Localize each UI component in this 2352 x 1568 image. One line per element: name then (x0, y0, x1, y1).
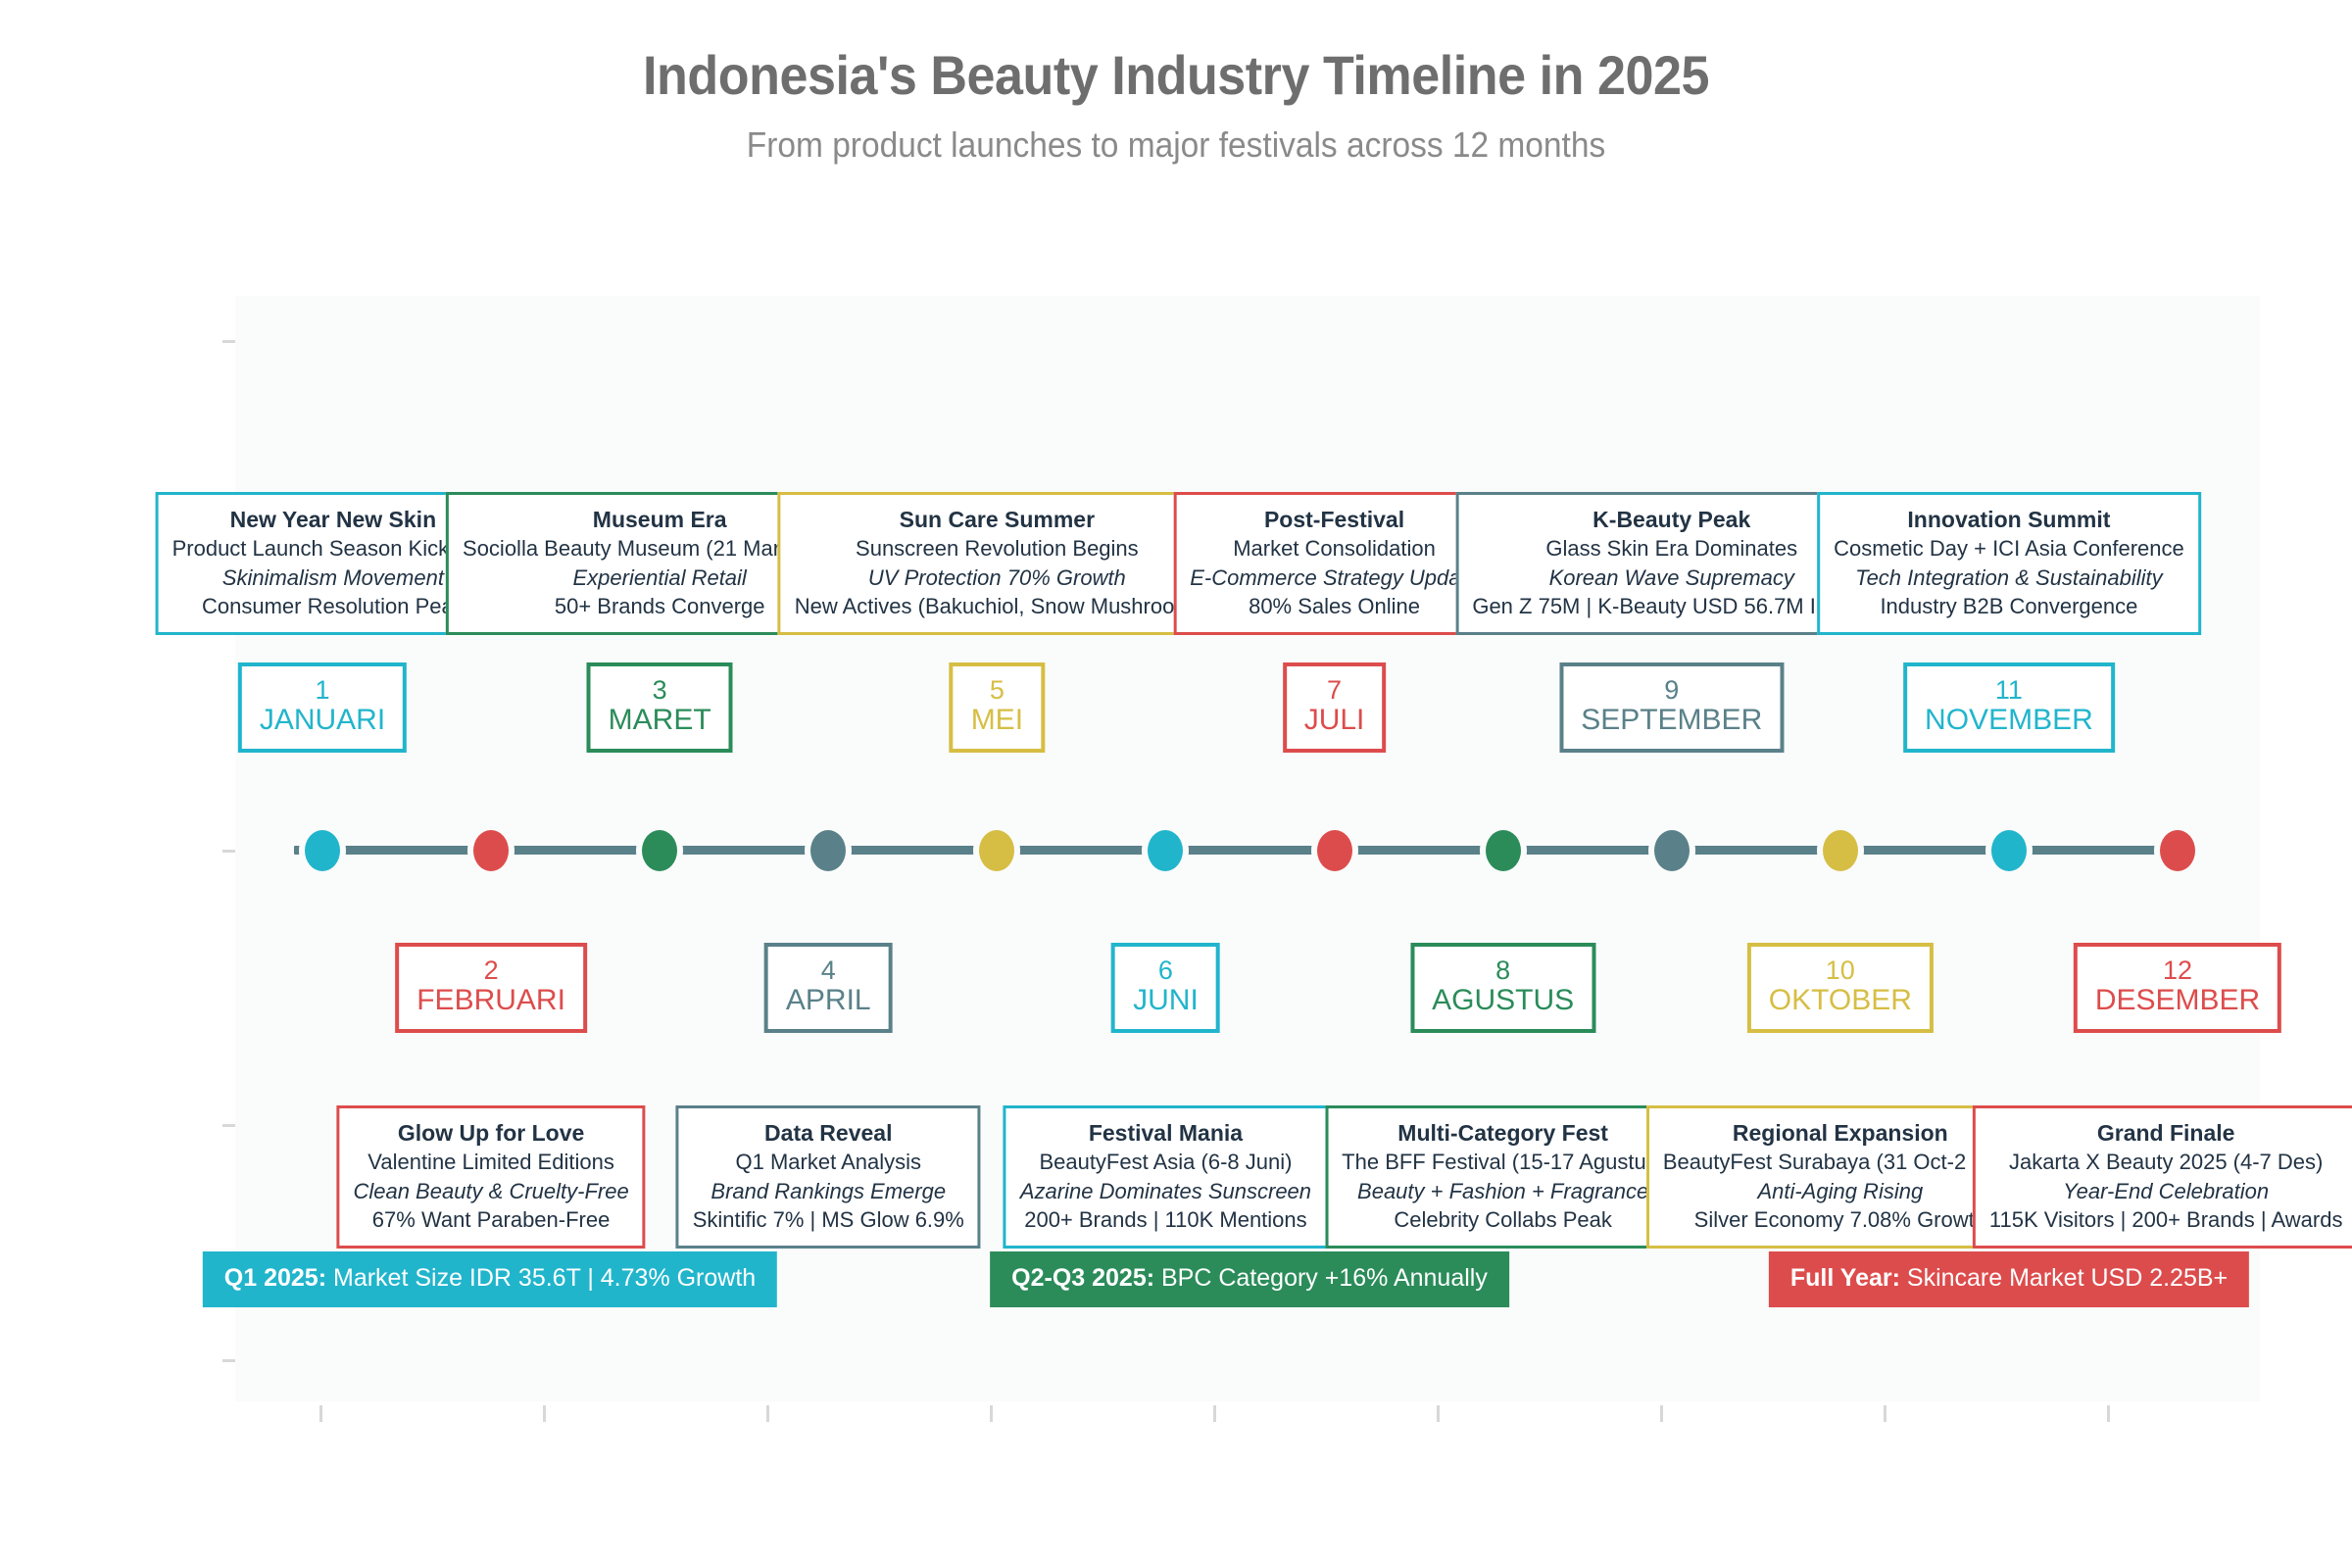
month-marker-oktober[interactable]: 10OKTOBER (1747, 943, 1934, 1033)
y-axis-tick (222, 1359, 235, 1362)
event-detail-stat: 115K Visitors | 200+ Brands | Awards (1989, 1205, 2343, 1234)
page-title: Indonesia's Beauty Industry Timeline in … (82, 0, 2270, 107)
event-detail-trend: Brand Rankings Emerge (693, 1177, 964, 1205)
event-detail-trend: Beauty + Fashion + Fragrance (1342, 1177, 1664, 1205)
summary-banner-3[interactable]: Full Year: Skincare Market USD 2.25B+ (1769, 1251, 2249, 1307)
summary-banner-1[interactable]: Q1 2025: Market Size IDR 35.6T | 4.73% G… (203, 1251, 777, 1307)
month-number: 10 (1769, 956, 1912, 985)
event-title: Festival Mania (1020, 1118, 1311, 1148)
event-detail-stat: 80% Sales Online (1190, 592, 1479, 620)
timeline-node-dot[interactable] (1823, 830, 1858, 871)
month-number: 1 (260, 676, 385, 705)
event-detail-primary: Market Consolidation (1190, 534, 1479, 563)
x-axis-tick (766, 1405, 769, 1422)
event-title: Grand Finale (1989, 1118, 2343, 1148)
month-name: JANUARI (260, 705, 385, 736)
month-name: MARET (609, 705, 711, 736)
event-card-mei[interactable]: Sun Care SummerSunscreen Revolution Begi… (778, 492, 1216, 635)
month-number: 7 (1304, 676, 1365, 705)
event-card-juli[interactable]: Post-FestivalMarket ConsolidationE-Comme… (1173, 492, 1495, 635)
event-detail-primary: BeautyFest Surabaya (31 Oct-2 Nov) (1663, 1148, 2018, 1176)
event-detail-primary: BeautyFest Asia (6-8 Juni) (1020, 1148, 1311, 1176)
timeline-node-dot[interactable] (305, 830, 340, 871)
event-detail-stat: 67% Want Paraben-Free (353, 1205, 628, 1234)
month-marker-juni[interactable]: 6JUNI (1111, 943, 1220, 1033)
month-marker-februari[interactable]: 2FEBRUARI (395, 943, 587, 1033)
month-name: AGUSTUS (1432, 985, 1574, 1016)
x-axis-tick (319, 1405, 322, 1422)
event-card-november[interactable]: Innovation SummitCosmetic Day + ICI Asia… (1817, 492, 2201, 635)
event-title: Post-Festival (1190, 505, 1479, 534)
event-detail-stat: Silver Economy 7.08% Growth (1663, 1205, 2018, 1234)
event-detail-stat: New Actives (Bakuchiol, Snow Mushroom) (795, 592, 1200, 620)
event-detail-primary: Jakarta X Beauty 2025 (4-7 Des) (1989, 1148, 2343, 1176)
event-card-februari[interactable]: Glow Up for LoveValentine Limited Editio… (336, 1105, 645, 1249)
event-title: Sun Care Summer (795, 505, 1200, 534)
timeline-node-dot[interactable] (473, 830, 509, 871)
event-detail-trend: UV Protection 70% Growth (795, 563, 1200, 592)
event-detail-primary: The BFF Festival (15-17 Agustus) (1342, 1148, 1664, 1176)
month-marker-november[interactable]: 11NOVEMBER (1903, 662, 2115, 753)
month-name: DESEMBER (2095, 985, 2260, 1016)
event-detail-primary: Glass Skin Era Dominates (1472, 534, 1871, 563)
x-axis-tick (543, 1405, 546, 1422)
event-detail-stat: Gen Z 75M | K-Beauty USD 56.7M Import (1472, 592, 1871, 620)
summary-label: Q1 2025: (224, 1264, 333, 1292)
summary-text: Market Size IDR 35.6T | 4.73% Growth (333, 1264, 756, 1292)
month-marker-januari[interactable]: 1JANUARI (238, 662, 407, 753)
y-axis-tick (222, 850, 235, 853)
event-detail-stat: Skintific 7% | MS Glow 6.9% (693, 1205, 964, 1234)
summary-text: BPC Category +16% Annually (1161, 1264, 1488, 1292)
month-name: APRIL (786, 985, 871, 1016)
timeline-node-dot[interactable] (2160, 830, 2195, 871)
event-card-april[interactable]: Data RevealQ1 Market AnalysisBrand Ranki… (676, 1105, 981, 1249)
event-detail-trend: Korean Wave Supremacy (1472, 563, 1871, 592)
x-axis-tick (1437, 1405, 1440, 1422)
timeline-node-dot[interactable] (1317, 830, 1352, 871)
x-axis-tick (1660, 1405, 1663, 1422)
timeline-node-dot[interactable] (810, 830, 846, 871)
event-title: Innovation Summit (1834, 505, 2184, 534)
event-title: Glow Up for Love (353, 1118, 628, 1148)
event-card-juni[interactable]: Festival ManiaBeautyFest Asia (6-8 Juni)… (1004, 1105, 1328, 1249)
y-axis-tick (222, 1124, 235, 1127)
month-marker-maret[interactable]: 3MARET (587, 662, 733, 753)
month-number: 6 (1133, 956, 1199, 985)
month-number: 12 (2095, 956, 2260, 985)
month-number: 11 (1925, 676, 2093, 705)
event-detail-trend: Azarine Dominates Sunscreen (1020, 1177, 1311, 1205)
month-number: 4 (786, 956, 871, 985)
x-axis-tick (2107, 1405, 2110, 1422)
month-name: JULI (1304, 705, 1365, 736)
page-subtitle: From product launches to major festivals… (82, 107, 2270, 166)
event-detail-trend: Clean Beauty & Cruelty-Free (353, 1177, 628, 1205)
month-name: FEBRUARI (416, 985, 565, 1016)
event-title: K-Beauty Peak (1472, 505, 1871, 534)
event-detail-trend: Anti-Aging Rising (1663, 1177, 2018, 1205)
timeline-spine (294, 846, 2185, 855)
summary-label: Q2-Q3 2025: (1011, 1264, 1161, 1292)
month-marker-juli[interactable]: 7JULI (1283, 662, 1387, 753)
chart-header: Indonesia's Beauty Industry Timeline in … (0, 0, 2352, 166)
month-name: OKTOBER (1769, 985, 1912, 1016)
event-detail-stat: 200+ Brands | 110K Mentions (1020, 1205, 1311, 1234)
summary-text: Skincare Market USD 2.25B+ (1907, 1264, 2228, 1292)
timeline-node-dot[interactable] (1486, 830, 1521, 871)
month-number: 8 (1432, 956, 1574, 985)
x-axis-tick (990, 1405, 993, 1422)
month-marker-agustus[interactable]: 8AGUSTUS (1410, 943, 1595, 1033)
month-name: NOVEMBER (1925, 705, 2093, 736)
y-axis-tick (222, 340, 235, 343)
event-title: Regional Expansion (1663, 1118, 2018, 1148)
event-detail-trend: Tech Integration & Sustainability (1834, 563, 2184, 592)
summary-label: Full Year: (1790, 1264, 1907, 1292)
month-name: SEPTEMBER (1581, 705, 1762, 736)
event-card-desember[interactable]: Grand FinaleJakarta X Beauty 2025 (4-7 D… (1973, 1105, 2352, 1249)
event-card-agustus[interactable]: Multi-Category FestThe BFF Festival (15-… (1325, 1105, 1681, 1249)
month-marker-desember[interactable]: 12DESEMBER (2074, 943, 2281, 1033)
month-name: MEI (971, 705, 1023, 736)
month-number: 3 (609, 676, 711, 705)
month-number: 2 (416, 956, 565, 985)
timeline-node-dot[interactable] (1148, 830, 1183, 871)
month-number: 9 (1581, 676, 1762, 705)
event-title: Multi-Category Fest (1342, 1118, 1664, 1148)
x-axis-tick (1213, 1405, 1216, 1422)
event-detail-trend: E-Commerce Strategy Update (1190, 563, 1479, 592)
event-detail-stat: Industry B2B Convergence (1834, 592, 2184, 620)
month-marker-mei[interactable]: 5MEI (950, 662, 1045, 753)
timeline-node-dot[interactable] (979, 830, 1014, 871)
month-number: 5 (971, 676, 1023, 705)
event-detail-primary: Q1 Market Analysis (693, 1148, 964, 1176)
timeline-node-dot[interactable] (1991, 830, 2027, 871)
timeline-node-dot[interactable] (1654, 830, 1690, 871)
event-title: Data Reveal (693, 1118, 964, 1148)
month-marker-april[interactable]: 4APRIL (764, 943, 893, 1033)
timeline-node-dot[interactable] (642, 830, 677, 871)
event-detail-primary: Valentine Limited Editions (353, 1148, 628, 1176)
event-detail-trend: Year-End Celebration (1989, 1177, 2343, 1205)
event-detail-primary: Cosmetic Day + ICI Asia Conference (1834, 534, 2184, 563)
summary-banner-2[interactable]: Q2-Q3 2025: BPC Category +16% Annually (990, 1251, 1509, 1307)
month-name: JUNI (1133, 985, 1199, 1016)
event-detail-stat: Celebrity Collabs Peak (1342, 1205, 1664, 1234)
x-axis-tick (1884, 1405, 1886, 1422)
event-detail-primary: Sunscreen Revolution Begins (795, 534, 1200, 563)
month-marker-september[interactable]: 9SEPTEMBER (1559, 662, 1784, 753)
